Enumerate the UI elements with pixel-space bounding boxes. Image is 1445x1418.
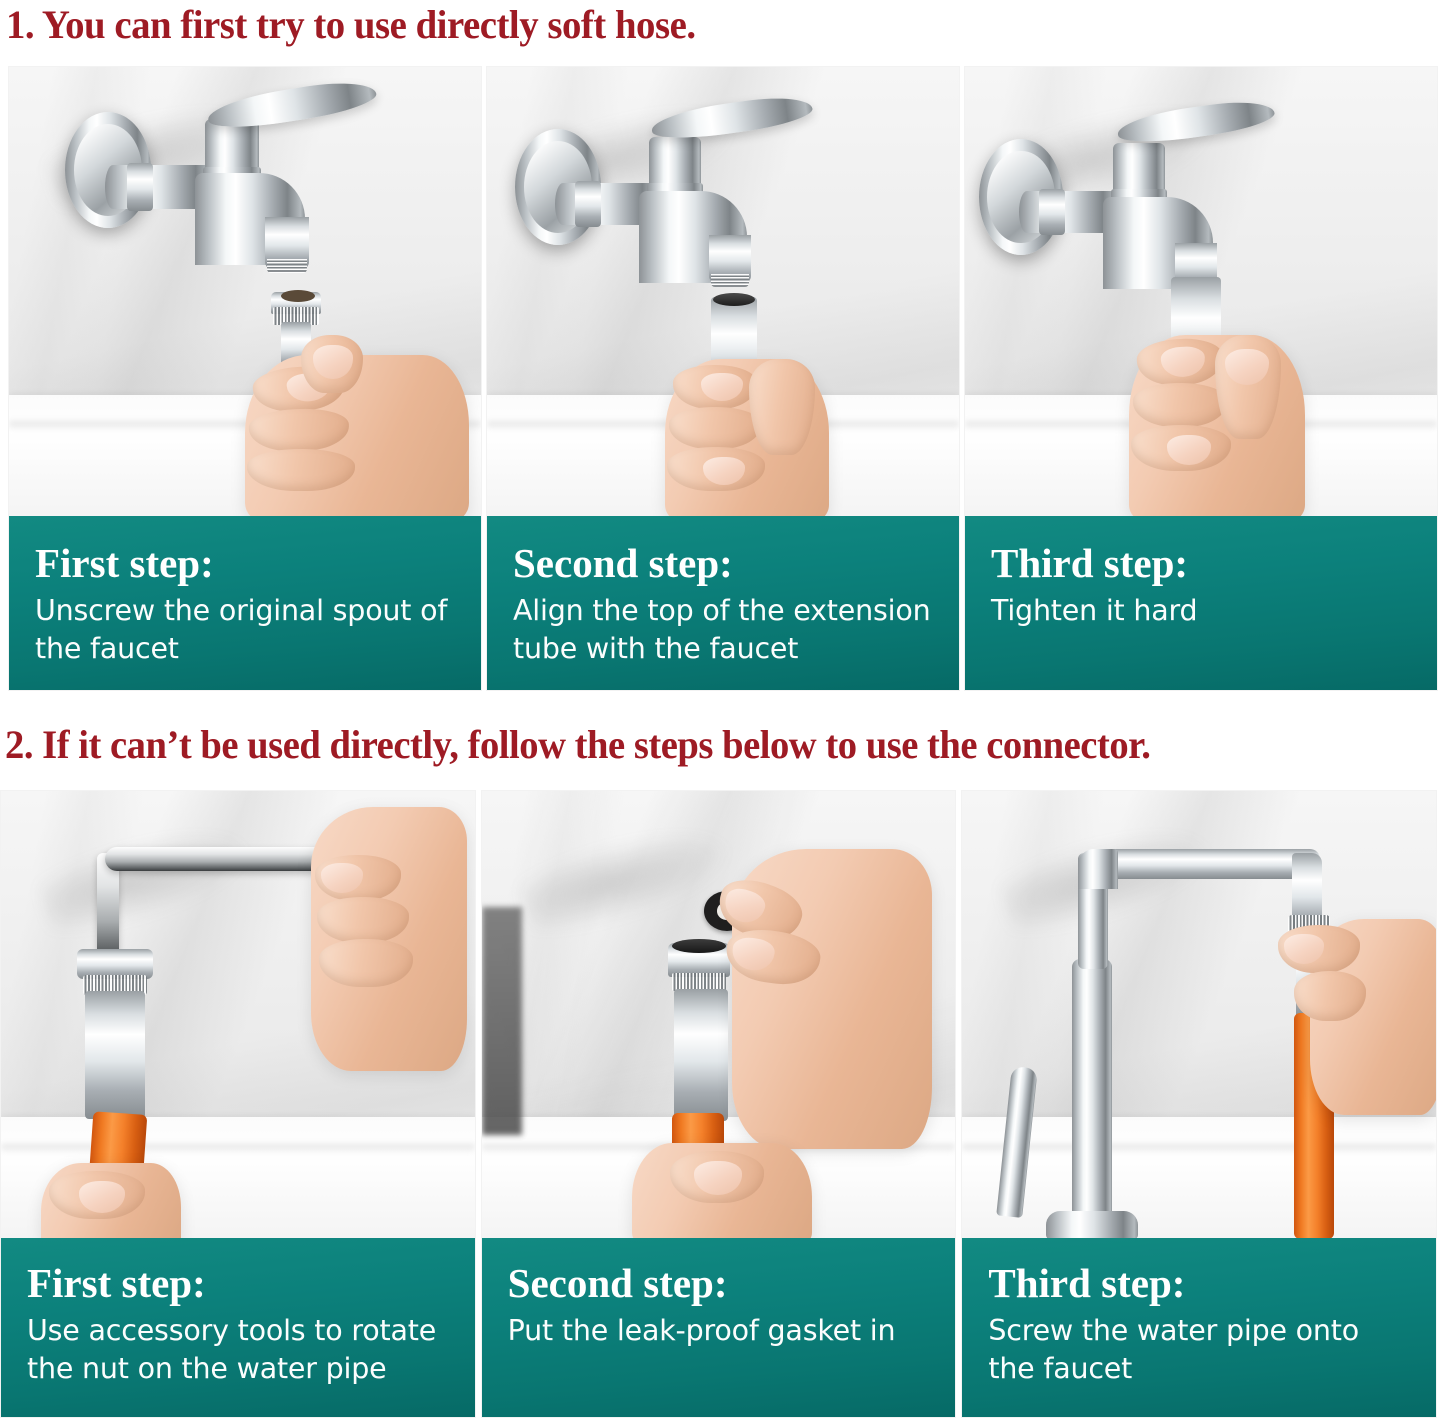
faucet-outlet-threads — [711, 274, 749, 287]
step-photo-2-3 — [962, 791, 1436, 1238]
background-appliance-blur — [482, 907, 522, 1135]
kitchen-faucet-left-corner — [1078, 849, 1118, 889]
middle-finger — [1133, 383, 1227, 427]
index-finger — [673, 365, 757, 409]
ring-finger — [1131, 425, 1231, 471]
step-caption-1-2: Second step: Align the top of the extens… — [487, 516, 959, 690]
thumb — [301, 335, 363, 393]
step-body: Unscrew the original spout of the faucet — [35, 592, 455, 668]
fingernail — [701, 373, 743, 401]
faucet-collar-ring — [127, 163, 153, 211]
step-photo-2-1 — [1, 791, 475, 1238]
step-title: Second step: — [508, 1260, 930, 1306]
steps-row-direct-hose: First step: Unscrew the original spout o… — [8, 66, 1438, 691]
faucet-collar-ring — [1039, 189, 1065, 235]
water-pipe-metal-sleeve — [674, 989, 728, 1121]
step-title: First step: — [35, 540, 455, 586]
step-photo-1-2 — [487, 67, 959, 516]
step-panel-2-1: First step: Use accessory tools to rotat… — [0, 790, 476, 1418]
removed-spout-bore — [281, 290, 315, 302]
infographic-page: 1. You can first try to use directly sof… — [0, 0, 1445, 1418]
step-caption-1-1: First step: Unscrew the original spout o… — [9, 516, 481, 690]
thumbnail — [1225, 349, 1269, 385]
faucet-outlet-threads — [267, 259, 307, 273]
fingernail — [1284, 934, 1324, 964]
fingernail — [720, 885, 768, 928]
index-finger — [315, 855, 401, 901]
step-panel-1-1: First step: Unscrew the original spout o… — [8, 66, 482, 691]
faucet-collar-ring — [575, 181, 601, 227]
step-caption-1-3: Third step: Tighten it hard — [965, 516, 1437, 690]
ring-finger — [319, 939, 413, 987]
middle-finger — [669, 407, 761, 449]
fingernail — [1167, 435, 1211, 465]
step-caption-2-2: Second step: Put the leak-proof gasket i… — [482, 1238, 956, 1417]
step-panel-1-3: Third step: Tighten it hard — [964, 66, 1438, 691]
step-panel-2-3: Third step: Screw the water pipe onto th… — [961, 790, 1437, 1418]
pipe-opening — [672, 939, 726, 953]
step-title: First step: — [27, 1260, 449, 1306]
water-pipe-metal-sleeve — [85, 991, 145, 1119]
section-heading-2: 2. If it can’t be used directly, follow … — [5, 722, 1150, 768]
thumb — [1294, 971, 1366, 1021]
index-finger — [1278, 925, 1360, 973]
thumb — [49, 1171, 145, 1219]
ring-finger — [667, 447, 765, 491]
fingernail — [703, 457, 745, 485]
section-heading-1: 1. You can first try to use directly sof… — [6, 2, 696, 48]
thumb — [1215, 335, 1281, 439]
step-title: Second step: — [513, 540, 933, 586]
middle-finger — [317, 897, 409, 943]
kitchen-faucet-column — [1072, 959, 1112, 1237]
step-caption-2-3: Third step: Screw the water pipe onto th… — [962, 1238, 1436, 1417]
ring-finger — [247, 449, 355, 491]
step-title: Third step: — [988, 1260, 1410, 1306]
thumbnail — [730, 935, 776, 973]
steps-row-connector: First step: Use accessory tools to rotat… — [0, 790, 1437, 1418]
step-panel-1-2: Second step: Align the top of the extens… — [486, 66, 960, 691]
extension-tube-opening — [713, 293, 755, 306]
step-caption-2-1: First step: Use accessory tools to rotat… — [1, 1238, 475, 1417]
step-body: Tighten it hard — [991, 592, 1411, 630]
step-body: Use accessory tools to rotate the nut on… — [27, 1312, 449, 1388]
kitchen-faucet-top-arm — [1088, 849, 1320, 879]
step-title: Third step: — [991, 540, 1411, 586]
step-body: Align the top of the extension tube with… — [513, 592, 933, 668]
thumbnail — [313, 345, 353, 379]
counter-background — [962, 1117, 1436, 1238]
step-panel-2-2: Second step: Put the leak-proof gasket i… — [481, 790, 957, 1418]
step-photo-1-1 — [9, 67, 481, 516]
thumb — [670, 1151, 764, 1203]
thumbnail — [79, 1181, 125, 1213]
step-photo-1-3 — [965, 67, 1437, 516]
step-body: Put the leak-proof gasket in — [508, 1312, 930, 1350]
fingernail — [1160, 346, 1206, 378]
thumb — [749, 359, 815, 455]
thumbnail — [694, 1161, 742, 1195]
kitchen-faucet-base — [1046, 1211, 1138, 1238]
step-body: Screw the water pipe onto the faucet — [988, 1312, 1410, 1388]
step-photo-2-2 — [482, 791, 956, 1238]
fingernail — [321, 863, 363, 893]
